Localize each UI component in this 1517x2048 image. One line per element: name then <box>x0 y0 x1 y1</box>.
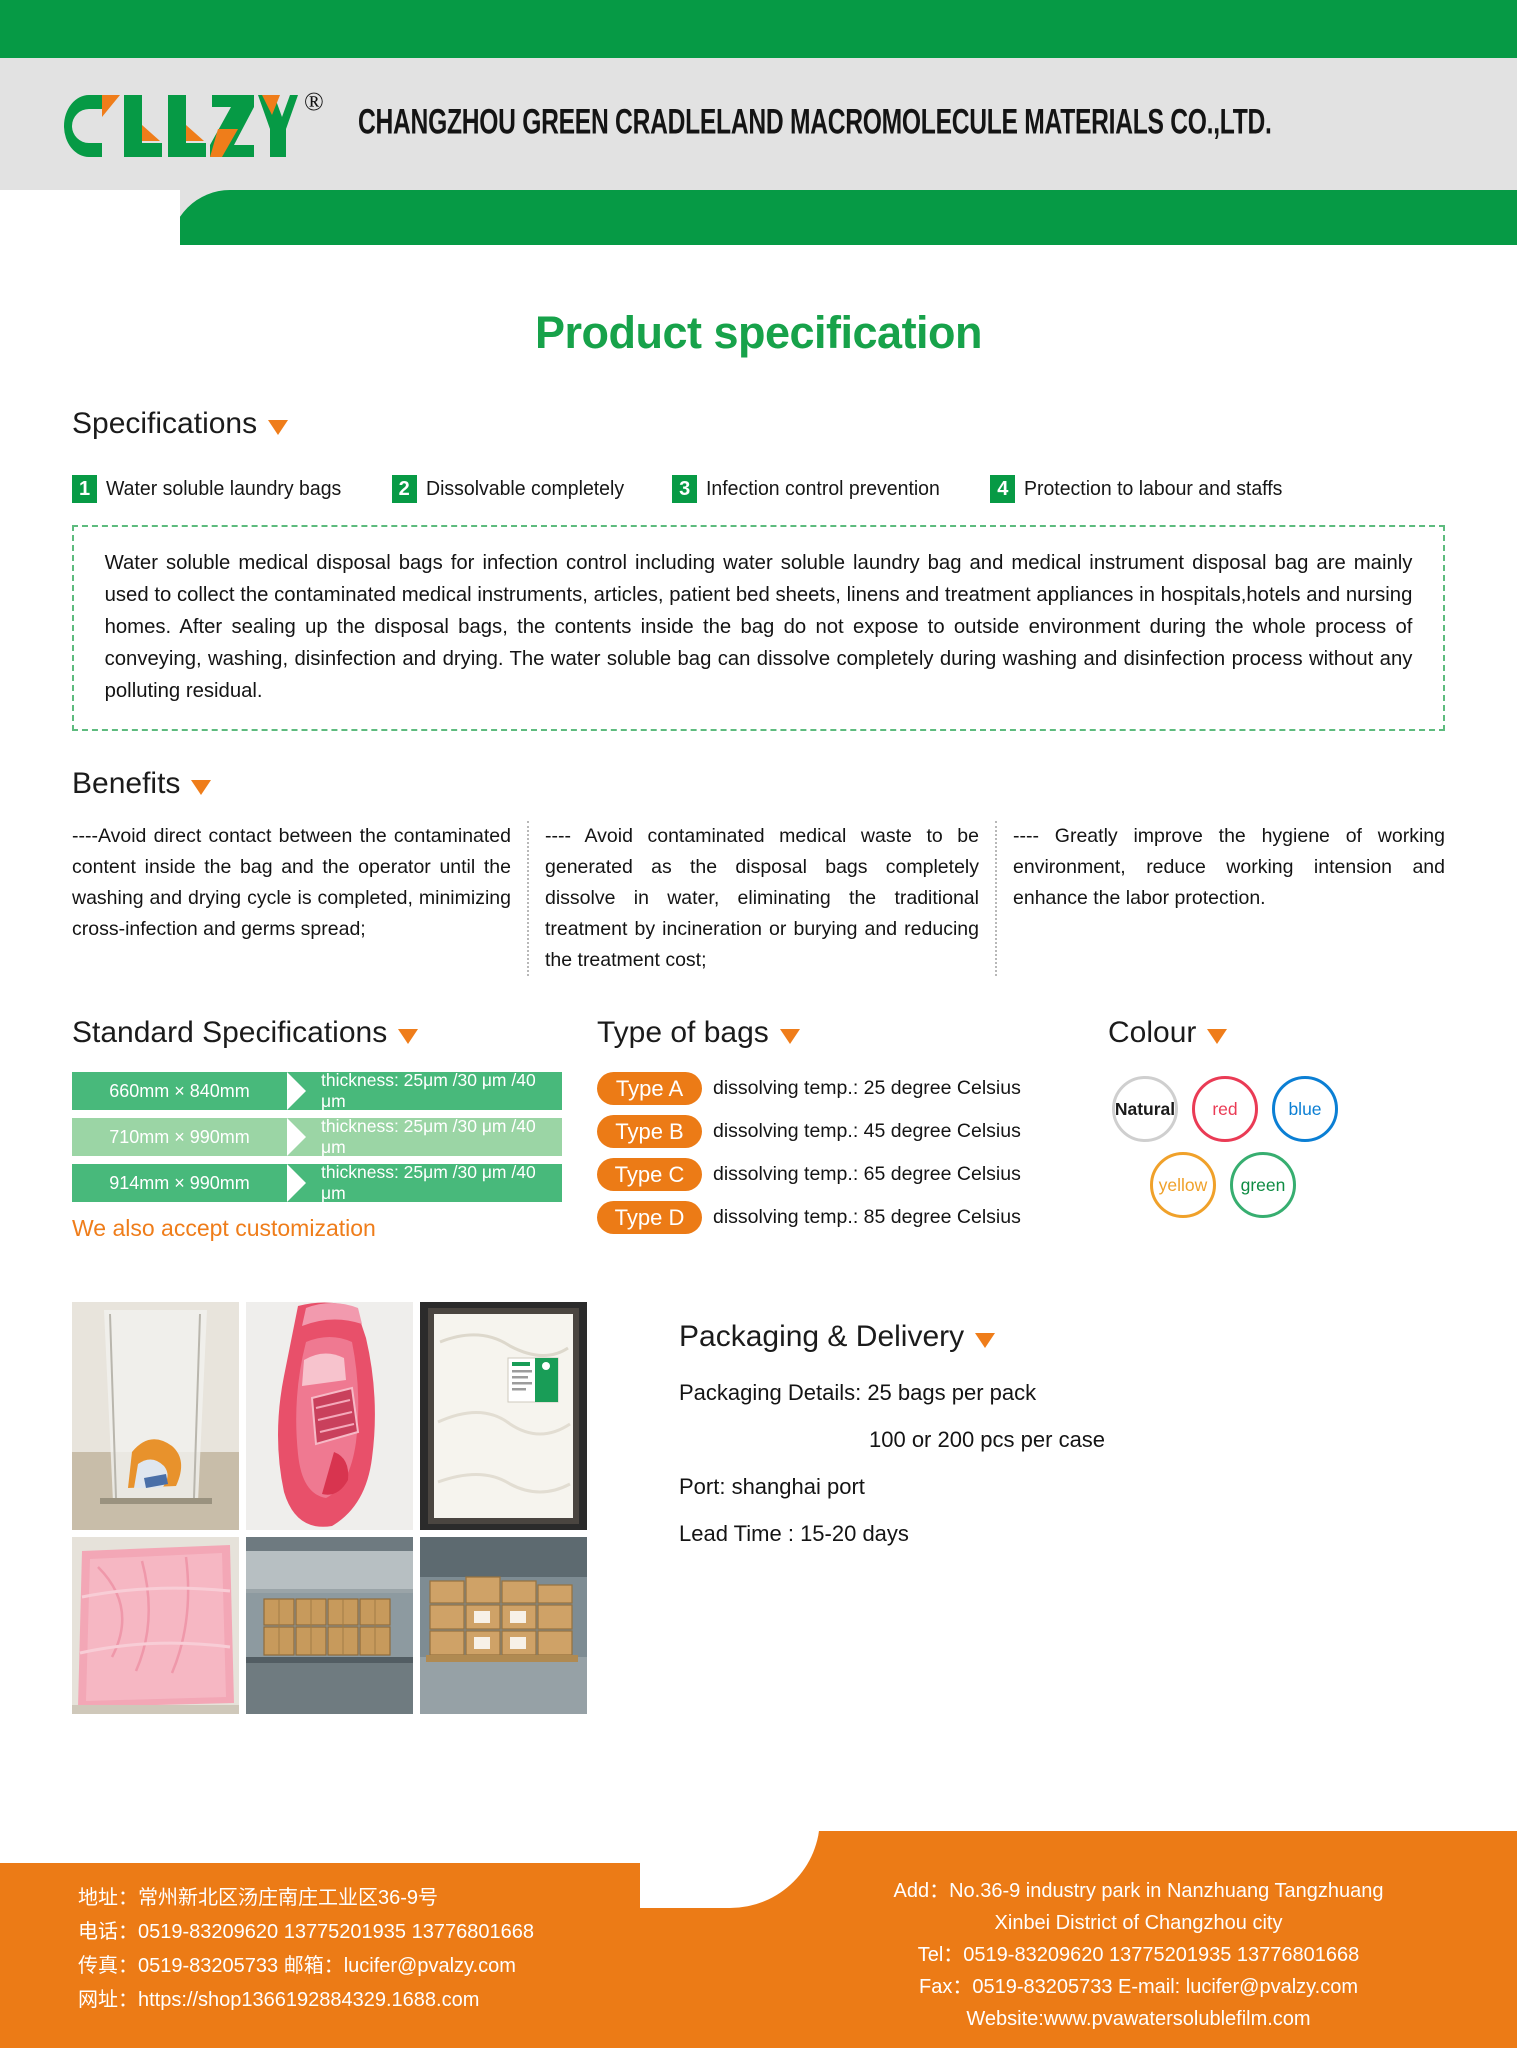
product-description-text: Water soluble medical disposal bags for … <box>105 547 1413 707</box>
spec-row-thickness: thickness: 25μm /30 μm /40 μm <box>287 1072 562 1110</box>
benefit-column-3: ---- Greatly improve the hygiene of work… <box>997 821 1445 976</box>
type-row: Type C dissolving temp.: 65 degree Celsi… <box>597 1158 1062 1191</box>
type-temperature: dissolving temp.: 65 degree Celsius <box>713 1163 1021 1186</box>
benefits-columns: ----Avoid direct contact between the con… <box>72 821 1445 976</box>
header-green-top-band <box>0 0 900 58</box>
benefit-column-2: ---- Avoid contaminated medical waste to… <box>527 821 997 976</box>
benefits-heading: Benefits <box>72 767 1445 801</box>
colour-circle-yellow: yellow <box>1150 1152 1216 1218</box>
header-white-left-block <box>0 190 180 245</box>
type-pill: Type B <box>597 1115 702 1148</box>
photo-clear-bag-on-stand <box>72 1302 239 1530</box>
page-body: Product specification Specifications 1 W… <box>0 307 1517 1714</box>
footer-website-en[interactable]: Website:www.pvawatersolublefilm.com <box>760 2003 1517 2035</box>
page-footer: 地址：常州新北区汤庄南庄工业区36-9号 电话：0519-83209620 13… <box>0 1832 1517 2048</box>
type-temperature: dissolving temp.: 25 degree Celsius <box>713 1077 1021 1100</box>
spec-row: 914mm × 990mm thickness: 25μm /30 μm /40… <box>72 1164 562 1202</box>
header-green-bottom-band <box>170 190 1517 245</box>
footer-fax-email-en: Fax：0519-83205733 E-mail: lucifer@pvalzy… <box>760 1971 1517 2003</box>
type-row: Type D dissolving temp.: 85 degree Celsi… <box>597 1201 1062 1234</box>
spec-badge-4: 4 Protection to labour and staffs <box>990 475 1296 503</box>
specifications-heading-label: Specifications <box>72 407 257 441</box>
spec-row: 660mm × 840mm thickness: 25μm /30 μm /40… <box>72 1072 562 1110</box>
type-temperature: dissolving temp.: 45 degree Celsius <box>713 1120 1021 1143</box>
spec-row-size: 710mm × 990mm <box>72 1118 287 1156</box>
footer-address-cn: 地址：常州新北区汤庄南庄工业区36-9号 <box>78 1881 760 1915</box>
packaging-details-line: Packaging Details: 25 bags per pack <box>679 1380 1105 1406</box>
cllzy-logo-mark: ® <box>58 95 298 157</box>
chevron-down-icon <box>398 1029 418 1044</box>
brand-logo: ® CHANGZHOU GREEN CRADLELAND MACROMOLECU… <box>58 95 1340 157</box>
footer-contact-en: Add：No.36-9 industry park in Nanzhuang T… <box>760 1863 1517 2048</box>
footer-address-en-line2: Xinbei District of Changzhou city <box>760 1907 1517 1939</box>
footer-address-en-line1: Add：No.36-9 industry park in Nanzhuang T… <box>760 1875 1517 1907</box>
packaging-heading-label: Packaging & Delivery <box>679 1320 964 1354</box>
product-description-box: Water soluble medical disposal bags for … <box>72 525 1445 731</box>
spec-badge-number: 3 <box>672 475 697 503</box>
specs-types-colour-row: Standard Specifications 660mm × 840mm th… <box>72 1016 1445 1244</box>
photo-boxed-bags-with-label <box>420 1302 587 1530</box>
chevron-down-icon <box>268 420 288 435</box>
photo-red-bag-with-laundry <box>246 1302 413 1530</box>
pink-bag-flat-image <box>72 1537 239 1714</box>
spec-badge-label: Protection to labour and staffs <box>1024 477 1282 501</box>
customization-note: We also accept customization <box>72 1215 597 1242</box>
clear-bag-on-stand-image <box>72 1302 239 1530</box>
colour-swatches: Natural red blue yellow green <box>1062 1076 1442 1218</box>
type-pill: Type A <box>597 1072 702 1105</box>
colour-row-2: yellow green <box>1112 1152 1442 1218</box>
header-green-corner <box>880 0 1517 58</box>
spec-badge-2: 2 Dissolvable completely <box>392 475 635 503</box>
type-row: Type A dissolving temp.: 25 degree Celsi… <box>597 1072 1062 1105</box>
standard-specifications-heading-label: Standard Specifications <box>72 1016 387 1050</box>
footer-white-gap <box>0 1817 660 1863</box>
colour-heading: Colour <box>1062 1016 1442 1050</box>
spec-badge-label: Dissolvable completely <box>426 477 624 501</box>
spec-row-size: 660mm × 840mm <box>72 1072 287 1110</box>
photo-palletized-cartons <box>420 1537 587 1714</box>
palletized-cartons-image <box>420 1537 587 1714</box>
standard-specifications-heading: Standard Specifications <box>72 1016 597 1050</box>
spec-badge-3: 3 Infection control prevention <box>672 475 952 503</box>
footer-tel-en: Tel：0519-83209620 13775201935 1377680166… <box>760 1939 1517 1971</box>
packaging-details-list: Packaging Details: 25 bags per pack 100 … <box>679 1380 1105 1547</box>
footer-contact-cn: 地址：常州新北区汤庄南庄工业区36-9号 电话：0519-83209620 13… <box>0 1863 760 2048</box>
page-title: Product specification <box>72 307 1445 359</box>
packaging-lead-time-line: Lead Time : 15-20 days <box>679 1521 1105 1547</box>
colour-circle-blue: blue <box>1272 1076 1338 1142</box>
type-pill: Type C <box>597 1158 702 1191</box>
footer-website-cn[interactable]: 网址：https://shop1366192884329.1688.com <box>78 1983 760 2017</box>
spec-row-size: 914mm × 990mm <box>72 1164 287 1202</box>
colour-circle-red: red <box>1192 1076 1258 1142</box>
spec-badge-label: Water soluble laundry bags <box>106 477 341 501</box>
benefit-column-1: ----Avoid direct contact between the con… <box>72 821 527 976</box>
footer-fax-email-cn: 传真：0519-83205733 邮箱：lucifer@pvalzy.com <box>78 1949 760 1983</box>
colour-block: Colour Natural red blue yellow green <box>1062 1016 1442 1244</box>
registered-trademark-icon: ® <box>304 87 324 117</box>
cllzy-logo-icon <box>58 95 298 157</box>
chevron-down-icon <box>1207 1029 1227 1044</box>
boxed-bags-with-label-image <box>420 1302 587 1530</box>
colour-heading-label: Colour <box>1108 1016 1196 1050</box>
spec-row-thickness: thickness: 25μm /30 μm /40 μm <box>287 1118 562 1156</box>
spec-badge-number: 4 <box>990 475 1015 503</box>
colour-row-1: Natural red blue <box>1112 1076 1442 1142</box>
photo-pink-bag-flat <box>72 1537 239 1714</box>
packaging-case-line: 100 or 200 pcs per case <box>679 1427 1105 1453</box>
type-pill: Type D <box>597 1201 702 1234</box>
packaging-delivery-block: Packaging & Delivery Packaging Details: … <box>607 1302 1105 1714</box>
spec-row: 710mm × 990mm thickness: 25μm /30 μm /40… <box>72 1118 562 1156</box>
benefits-heading-label: Benefits <box>72 767 180 801</box>
product-photo-grid <box>72 1302 607 1714</box>
type-of-bags-heading-label: Type of bags <box>597 1016 769 1050</box>
packaging-heading: Packaging & Delivery <box>679 1320 1105 1354</box>
chevron-down-icon <box>780 1029 800 1044</box>
page-header: ® CHANGZHOU GREEN CRADLELAND MACROMOLECU… <box>0 0 1517 245</box>
red-bag-with-laundry-image <box>246 1302 413 1530</box>
container-loading-image <box>246 1537 413 1714</box>
colour-circle-green: green <box>1230 1152 1296 1218</box>
spec-badge-number: 2 <box>392 475 417 503</box>
company-name: CHANGZHOU GREEN CRADLELAND MACROMOLECULE… <box>358 102 1272 143</box>
specifications-badge-list: 1 Water soluble laundry bags 2 Dissolvab… <box>72 475 1445 503</box>
photos-and-packaging: Packaging & Delivery Packaging Details: … <box>72 1302 1445 1714</box>
footer-contact-columns: 地址：常州新北区汤庄南庄工业区36-9号 电话：0519-83209620 13… <box>0 1863 1517 2048</box>
chevron-down-icon <box>975 1333 995 1348</box>
type-row: Type B dissolving temp.: 45 degree Celsi… <box>597 1115 1062 1148</box>
spec-row-thickness: thickness: 25μm /30 μm /40 μm <box>287 1164 562 1202</box>
specifications-heading: Specifications <box>72 407 1445 441</box>
spec-badge-1: 1 Water soluble laundry bags <box>72 475 354 503</box>
spec-badge-label: Infection control prevention <box>706 477 940 501</box>
chevron-down-icon <box>191 780 211 795</box>
standard-specifications-block: Standard Specifications 660mm × 840mm th… <box>72 1016 597 1244</box>
type-temperature: dissolving temp.: 85 degree Celsius <box>713 1206 1021 1229</box>
type-of-bags-rows: Type A dissolving temp.: 25 degree Celsi… <box>597 1072 1062 1234</box>
footer-phone-cn: 电话：0519-83209620 13775201935 13776801668 <box>78 1915 760 1949</box>
standard-specifications-rows: 660mm × 840mm thickness: 25μm /30 μm /40… <box>72 1072 597 1202</box>
photo-container-loading <box>246 1537 413 1714</box>
type-of-bags-heading: Type of bags <box>597 1016 1062 1050</box>
type-of-bags-block: Type of bags Type A dissolving temp.: 25… <box>597 1016 1062 1244</box>
spec-badge-number: 1 <box>72 475 97 503</box>
colour-circle-natural: Natural <box>1112 1076 1178 1142</box>
packaging-port-line: Port: shanghai port <box>679 1474 1105 1500</box>
